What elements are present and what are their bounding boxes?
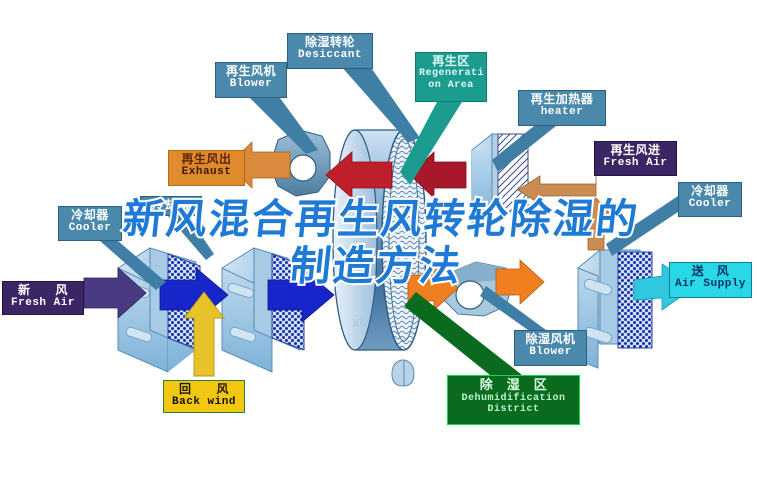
label-cn: 再生风机 [219,65,283,78]
label-en: Blower [518,346,583,358]
label-desiccant-wheel: 除湿转轮Desiccant [287,33,373,69]
label-en: Regenerati on Area [419,68,483,90]
label-en: Blower [219,78,283,90]
label-cn: 除湿转轮 [291,36,369,49]
label-cn: 冷却器 [144,199,198,212]
label-cn: 再生区 [419,55,483,68]
label-en: Cooler [62,222,118,234]
label-cn: 再生加热器 [522,93,602,106]
label-dehumidification-district: 除 湿 区Dehumidification District [447,375,580,425]
label-cooler-right: 冷却器Cooler [678,182,742,217]
label-regeneration-area: 再生区Regenerati on Area [415,52,487,102]
schematic-artwork: xt [0,0,757,488]
label-cn: 回 风 [167,383,241,396]
label-dehumidification-blower: 除湿风机Blower [514,330,587,366]
watermark-text: xt [352,314,365,331]
label-cn: 冷却器 [62,209,118,222]
label-en: heater [522,106,602,118]
label-en: Back wind [167,396,241,408]
label-fresh-air-in: 新 风Fresh Air [2,281,84,315]
flow-regen-fresh-arrow [518,176,612,250]
label-cn: 冷却器 [682,185,738,198]
label-regeneration-heater: 再生加热器heater [518,90,606,126]
label-cooler-left: 冷却器Cooler [58,206,122,241]
label-en: Fresh Air [6,297,80,309]
label-cn: 再生风进 [598,144,673,157]
diagram-canvas: xt [0,0,757,488]
label-cooler-mid: 冷却器 [140,196,202,216]
drain-pan [392,360,414,386]
label-cn: 除 湿 区 [451,378,576,393]
label-cn: 除湿风机 [518,333,583,346]
label-back-wind: 回 风Back wind [163,380,245,413]
label-en: Cooler [682,198,738,210]
label-cn: 送 风 [673,265,748,278]
label-regeneration-blower: 再生风机Blower [215,62,287,98]
label-en: Exhaust [172,166,241,178]
label-cn: 新 风 [6,284,80,297]
label-cn: 再生风出 [172,153,241,166]
label-en: Fresh Air [598,157,673,169]
label-en: Air Supply [673,278,748,290]
label-regeneration-fresh-air-in: 再生风进Fresh Air [594,141,677,176]
supply-coil [578,250,652,368]
label-en: Desiccant [291,49,369,61]
label-air-supply: 送 风Air Supply [669,262,752,298]
label-en: Dehumidification District [451,393,576,415]
label-exhaust: 再生风出Exhaust [168,150,245,186]
